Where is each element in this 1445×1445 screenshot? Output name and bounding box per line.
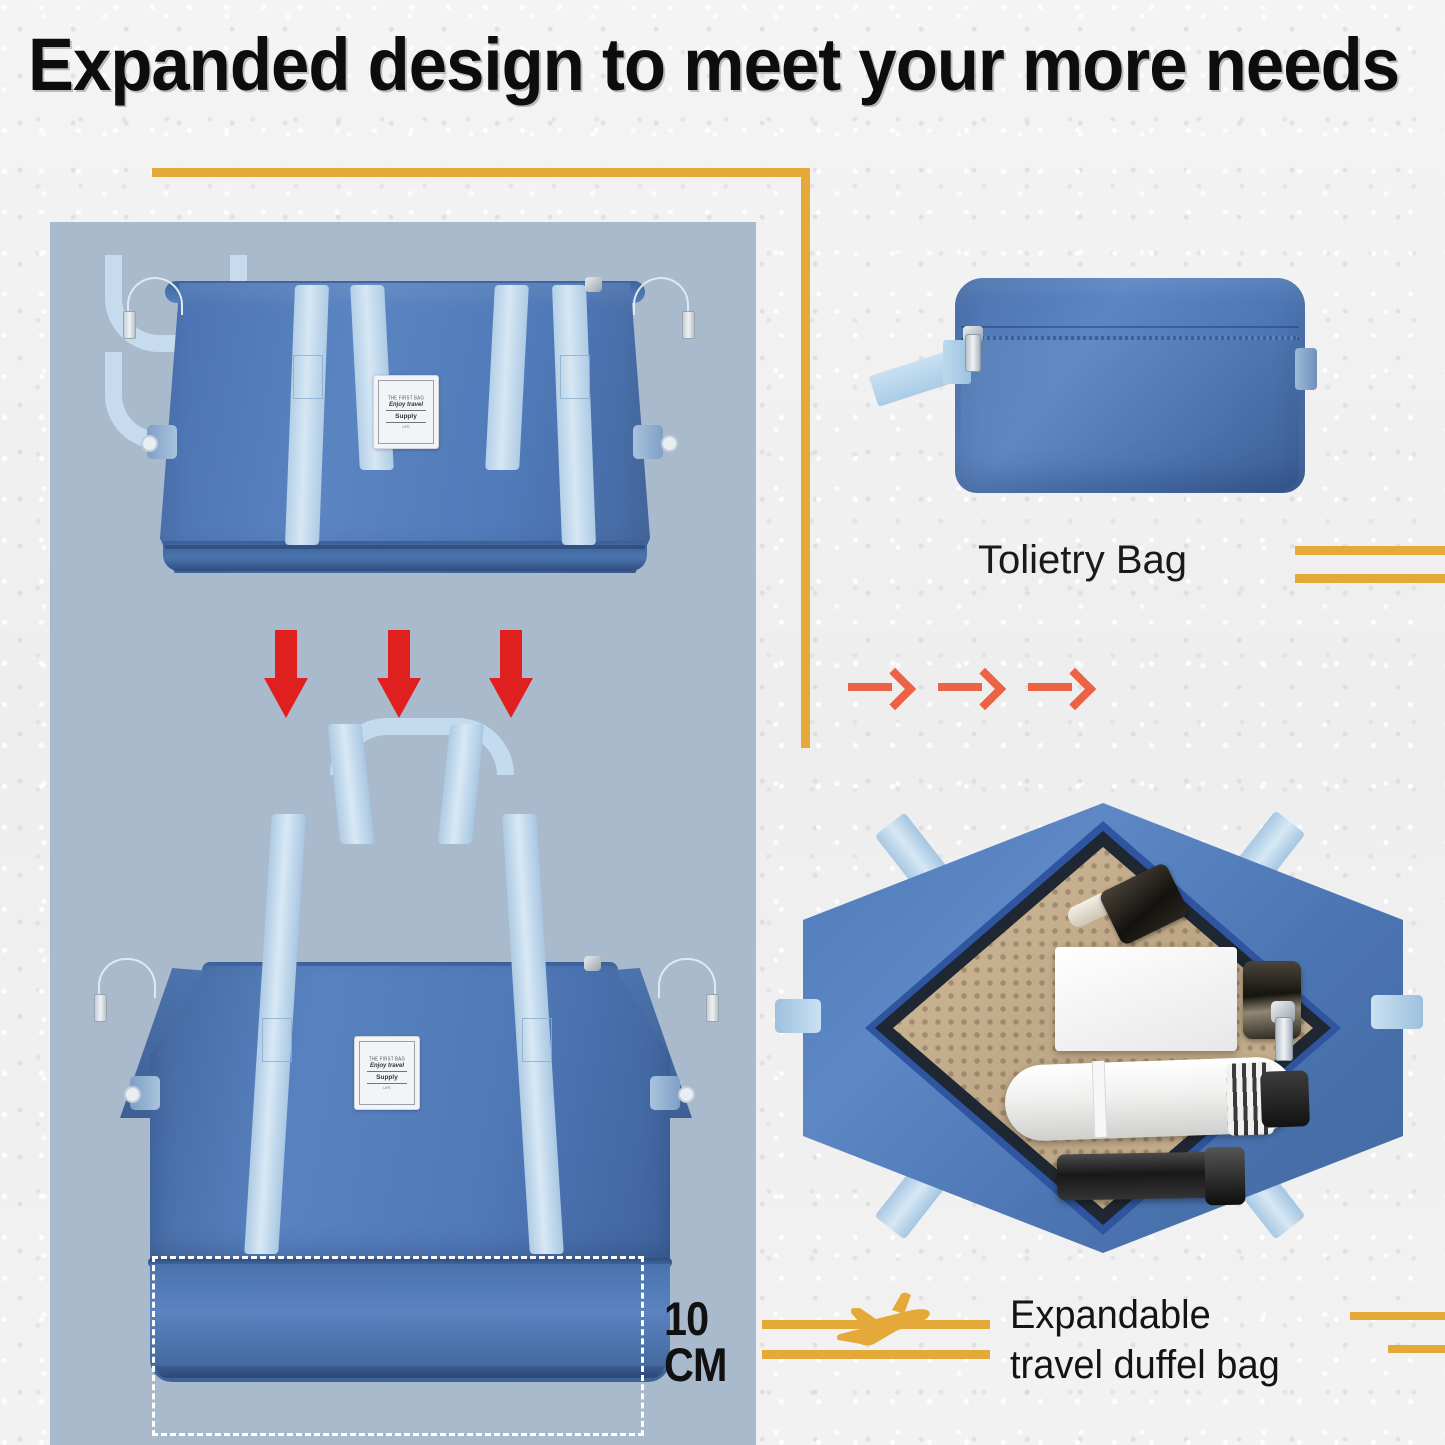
- side-tab-right: [633, 425, 663, 459]
- patch-line2: Supply: [376, 1074, 398, 1081]
- zipper-pull-left: [123, 311, 136, 339]
- patch-divider: [386, 422, 426, 423]
- zipper-pull-right: [706, 994, 719, 1022]
- patch-sub: LIFE: [383, 1086, 391, 1090]
- measurement-value: 10: [664, 1296, 727, 1342]
- patch-line1: Enjoy travel: [389, 402, 423, 408]
- measurement-unit: CM: [664, 1342, 727, 1388]
- patch-divider: [367, 1071, 407, 1072]
- page-title: Expanded design to meet your more needs: [28, 22, 1330, 107]
- umbrella-strap: [1092, 1061, 1108, 1137]
- front-pocket: [961, 338, 1299, 492]
- umbrella-handle: [1260, 1070, 1310, 1128]
- toiletry-caption: Tolietry Bag: [978, 538, 1187, 583]
- down-arrow-icon: [264, 630, 308, 718]
- duffel-caption-line2: travel duffel bag: [1010, 1340, 1280, 1390]
- bag-base-seam: [165, 545, 645, 549]
- right-arrow-icon: [938, 670, 1000, 704]
- gold-line-bottom-bottom: [1388, 1345, 1445, 1353]
- gold-bracket-horizontal: [152, 168, 810, 177]
- handle-stitch: [262, 1018, 292, 1062]
- down-arrow-icon: [489, 630, 533, 718]
- side-ring-left: [124, 1086, 141, 1103]
- notebook: [1055, 947, 1237, 1051]
- brand-label-patch: THE FIRST BAG Enjoy travel Supply LIFE: [373, 375, 439, 449]
- toiletry-bag: [865, 268, 1325, 508]
- expansion-measure-box: [152, 1256, 644, 1436]
- handle-stitch: [522, 1018, 552, 1062]
- patch-brand-text: THE FIRST BAG: [388, 394, 424, 401]
- zipper-cord-left: [98, 958, 156, 998]
- brand-label-patch: THE FIRST BAG Enjoy travel Supply LIFE: [354, 1036, 420, 1110]
- airplane-icon: [830, 1288, 940, 1354]
- patch-divider: [386, 410, 426, 411]
- gold-bracket-vertical: [801, 168, 810, 748]
- bag-body: [150, 966, 670, 1266]
- zipper-cord-right: [633, 277, 689, 315]
- zipper-pull-right: [682, 311, 695, 339]
- zipper-pull: [965, 334, 981, 372]
- side-tab-right: [1371, 995, 1423, 1029]
- gold-line-toiletry-bottom: [1295, 574, 1445, 583]
- pocket-zipper: [963, 336, 1297, 340]
- right-arrow-icon: [848, 670, 910, 704]
- down-arrow-icon: [377, 630, 421, 718]
- side-ring-right: [661, 435, 678, 452]
- gold-line-toiletry-top: [1295, 546, 1445, 555]
- measurement-label: 10 CM: [664, 1296, 727, 1388]
- side-tab-left: [775, 999, 821, 1033]
- handle-stitch: [293, 355, 323, 399]
- patch-brand-text: THE FIRST BAG: [369, 1055, 405, 1062]
- zipper-pull-left: [94, 994, 107, 1022]
- side-tab-right: [650, 1076, 680, 1110]
- side-ring-right: [678, 1086, 695, 1103]
- duffel-caption: Expandable travel duffel bag: [1010, 1290, 1280, 1390]
- flashlight-head: [1204, 1147, 1245, 1206]
- right-arrow-icon: [1028, 670, 1090, 704]
- zipper-slider: [584, 956, 601, 971]
- cosmetic-jar-lid: [1243, 961, 1301, 991]
- patch-divider: [367, 1083, 407, 1084]
- patch-sub: LIFE: [402, 425, 410, 429]
- side-tab-right: [1295, 348, 1317, 390]
- zipper-slider: [585, 277, 602, 292]
- folded-duffel-bag: THE FIRST BAG Enjoy travel Supply LIFE: [105, 255, 705, 600]
- duffel-caption-line1: Expandable: [1010, 1290, 1280, 1340]
- patch-line2: Supply: [395, 413, 417, 420]
- gold-line-bottom-top: [1350, 1312, 1445, 1320]
- top-seam: [961, 326, 1299, 328]
- open-duffel-bag-top-view: [775, 795, 1430, 1265]
- zipper-pull: [1275, 1017, 1293, 1061]
- side-ring-left: [141, 435, 158, 452]
- handle-stitch: [560, 355, 590, 399]
- patch-line1: Enjoy travel: [370, 1063, 404, 1069]
- zipper-cord-right: [658, 958, 716, 998]
